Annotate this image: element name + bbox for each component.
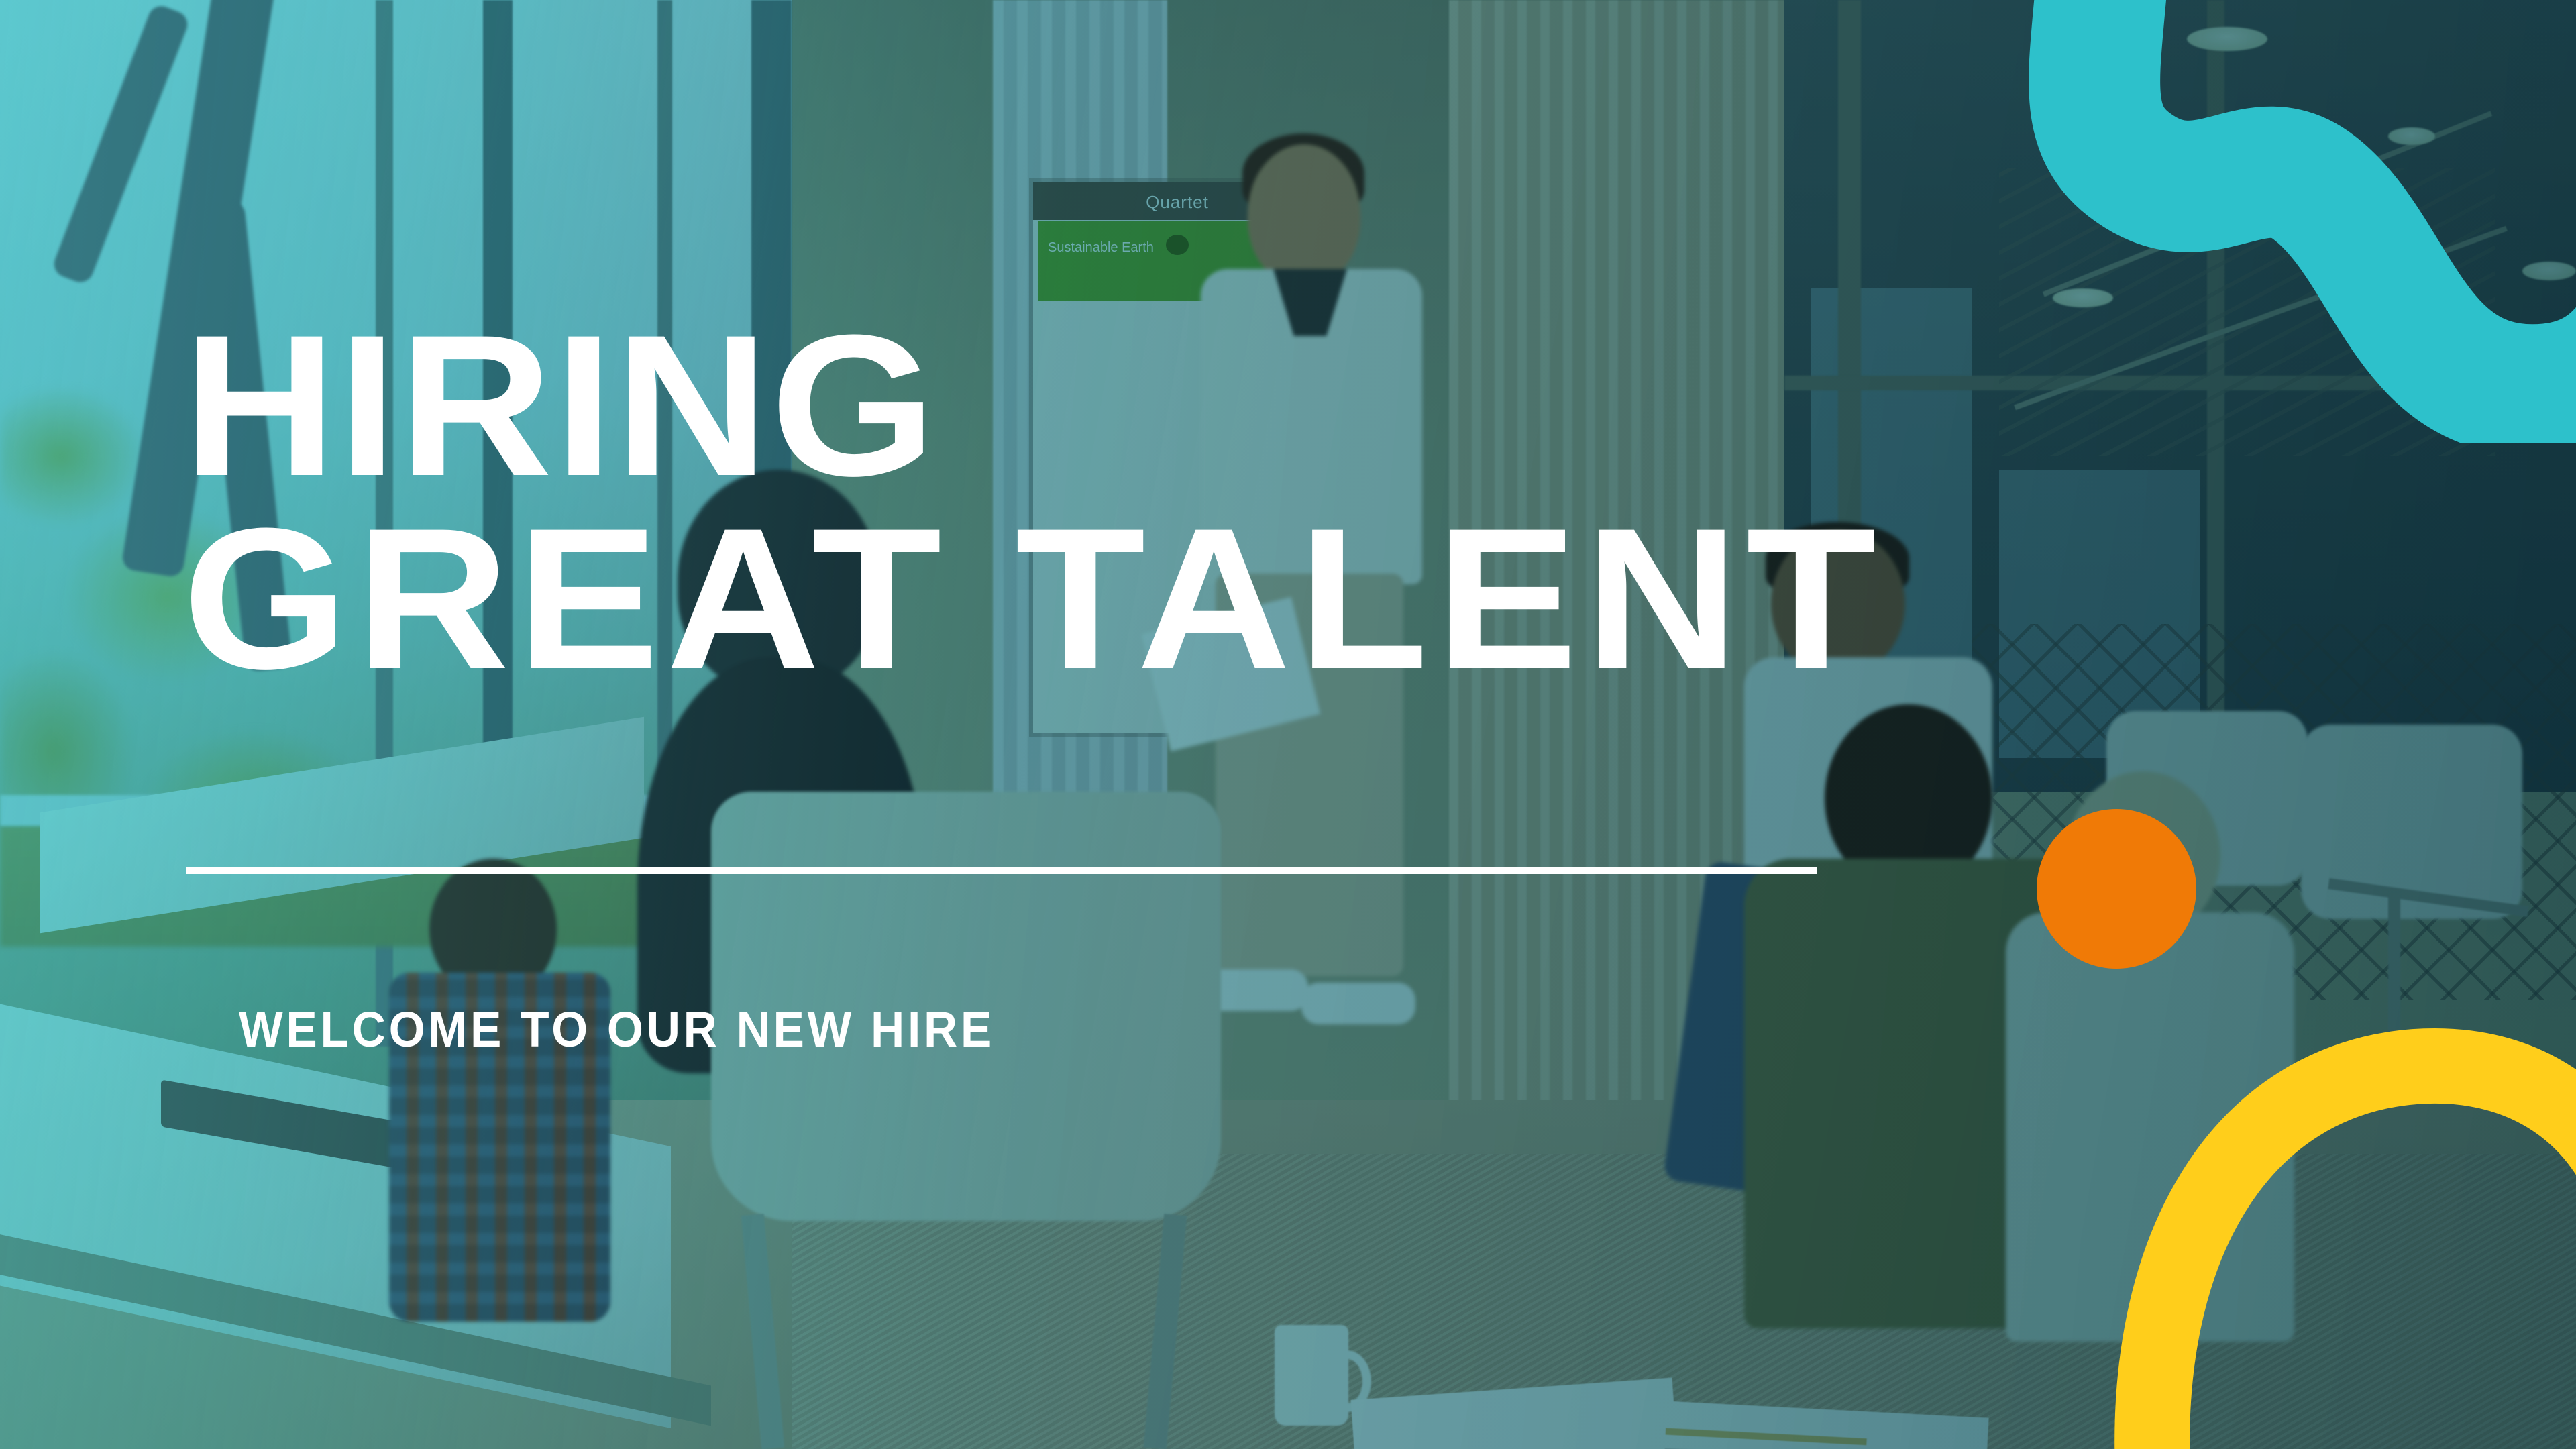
page-title: HIRING GREAT TALENT [182,309,1884,695]
subtitle: WELCOME TO OUR NEW HIRE [239,1001,995,1058]
orange-dot [2037,809,2196,969]
headline-line-2: GREAT TALENT [182,502,1884,695]
divider-rule [186,867,1817,874]
yellow-arc [2066,1026,2576,1449]
headline-line-1: HIRING [182,309,1884,502]
hiring-poster: Quartet Sustainable Earth [0,0,2576,1449]
teal-wave-squiggle [1966,0,2576,443]
